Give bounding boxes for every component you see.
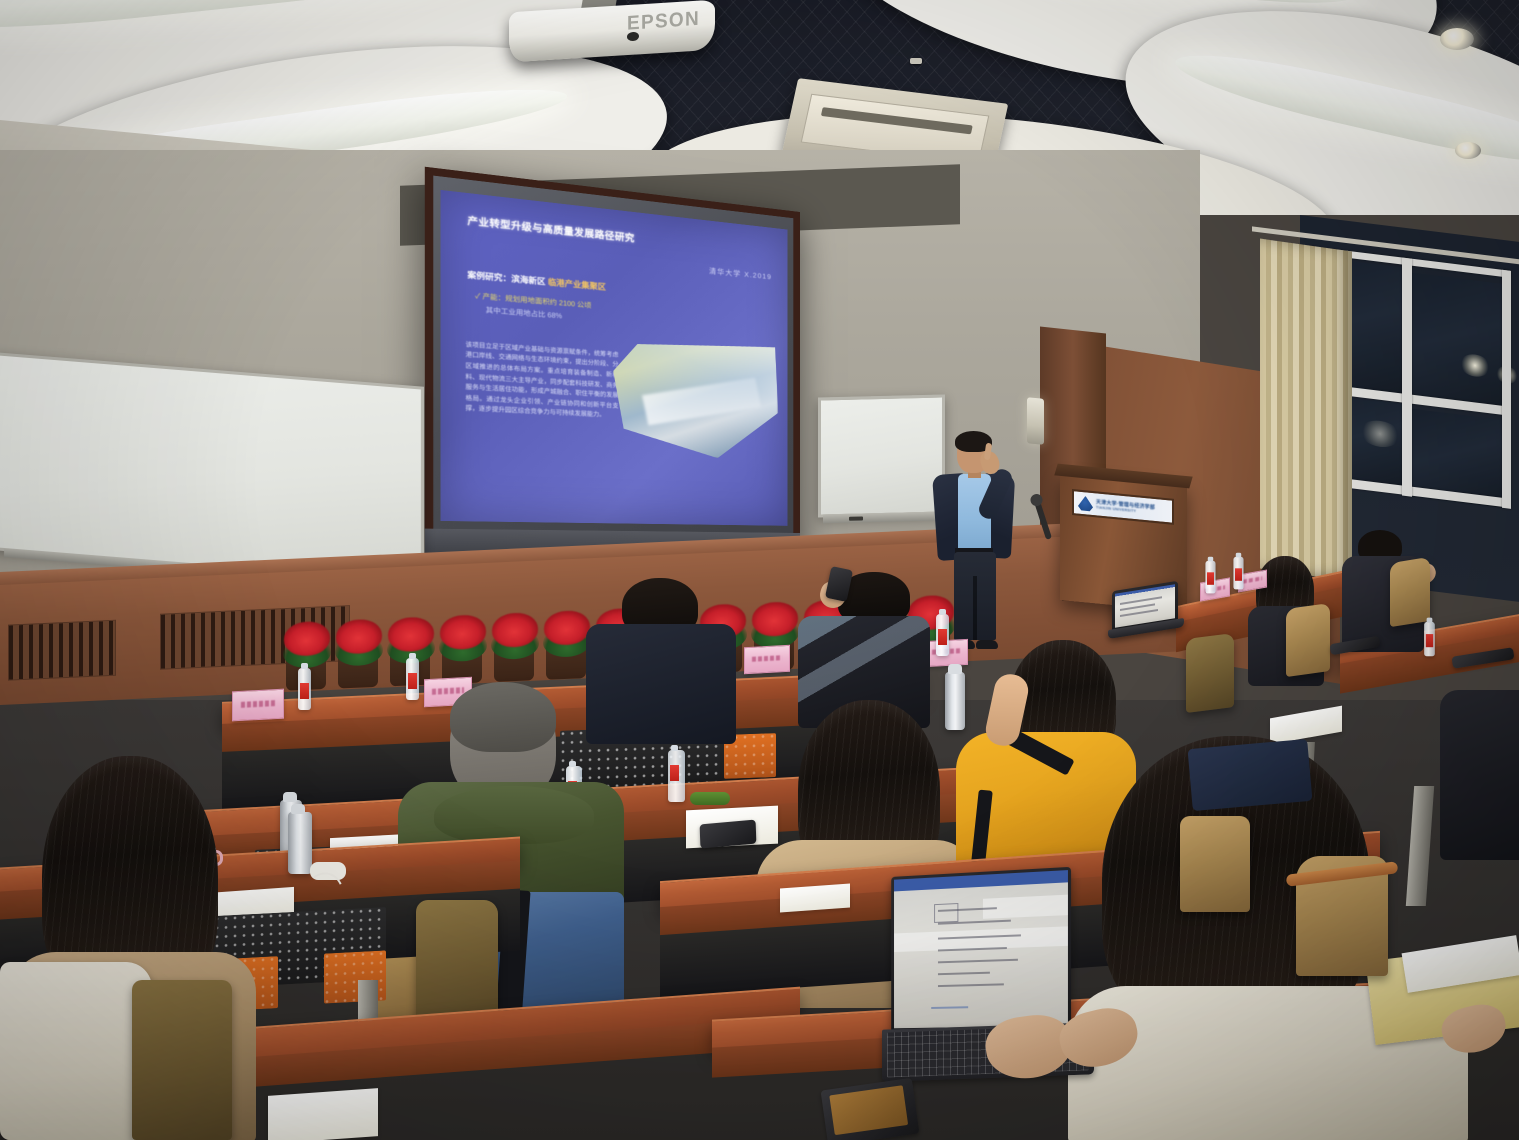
presenter-trousers [954, 552, 996, 640]
slide-title: 产业转型升级与高质量发展路径研究 [467, 213, 634, 245]
laptop-foreground[interactable] [891, 867, 1071, 1031]
whiteboard-right [818, 394, 945, 517]
chair[interactable] [1390, 557, 1430, 627]
marker-icon [849, 516, 863, 520]
water-bottle [298, 668, 311, 710]
slide-logo: 清华大学 X.2019 [709, 266, 772, 282]
ceiling-projector: EPSON [509, 0, 715, 68]
university-logo-icon [1078, 495, 1093, 511]
slide-body-text: 该项目立足于区域产业基础与资源禀赋条件，统筹考虑港口岸线、交通网络与生态环境约束… [466, 341, 619, 423]
chair[interactable] [1180, 816, 1250, 912]
projection-screen: 产业转型升级与高质量发展路径研究 清华大学 X.2019 案例研究：滨海新区 临… [425, 167, 800, 557]
water-bottle [1205, 561, 1215, 594]
slide-subtitle-prefix: 案例研究：滨海新区 [467, 270, 545, 287]
chair[interactable] [1286, 603, 1330, 677]
name-card-tent [232, 689, 284, 722]
handout-paper [268, 1088, 378, 1140]
window-curtain [1260, 239, 1352, 582]
whiteboard-left [0, 352, 424, 585]
window-mullion [1502, 270, 1511, 509]
podium-nameplate: 天津大学·管理与经济学部 TIANJIN UNIVERSITY [1072, 489, 1174, 525]
slide-bullets: ✓ 产能：规划用地面积约 2100 公顷 其中工业用地占比 68% [475, 290, 681, 333]
phone-screen [829, 1085, 908, 1135]
downlight-icon [1440, 28, 1474, 50]
chair[interactable] [132, 980, 232, 1140]
downlight-icon [1455, 142, 1481, 159]
water-bottle [936, 614, 949, 656]
slide-subtitle-highlight: 临港产业集聚区 [548, 277, 606, 292]
sprinkler-icon [910, 58, 922, 64]
projection-screen-surface: 产业转型升级与高质量发展路径研究 清华大学 X.2019 案例研究：滨海新区 临… [433, 176, 793, 550]
green-object [690, 792, 730, 805]
water-bottle [1233, 557, 1243, 590]
thermos-flask [288, 812, 312, 874]
slide-figure-image [613, 335, 778, 460]
wall-sconce-light [1027, 397, 1044, 444]
bag-on-desk [1188, 739, 1313, 811]
smartphone [700, 820, 757, 849]
wall-vent-grille [8, 620, 116, 681]
water-bottle [668, 750, 685, 802]
water-bottle [1424, 622, 1435, 656]
handout-paper [780, 884, 850, 913]
slide-subtitle: 案例研究：滨海新区 临港产业集聚区 [467, 269, 606, 293]
presentation-slide: 产业转型升级与高质量发展路径研究 清华大学 X.2019 案例研究：滨海新区 临… [441, 190, 788, 526]
draped-jacket [0, 962, 152, 1140]
lecture-hall-scene: EPSON 产业转型升级与高质量发展路径研究 清华大学 X.2019 [0, 0, 1519, 1140]
chair[interactable] [1186, 633, 1234, 713]
attendee-cropped-hair [450, 682, 556, 752]
hoodie-hood [434, 786, 594, 844]
window-pane [1412, 273, 1504, 414]
window-mullion [1402, 258, 1412, 497]
laptop-screen-display [894, 870, 1068, 1028]
name-card-tent [744, 645, 790, 674]
